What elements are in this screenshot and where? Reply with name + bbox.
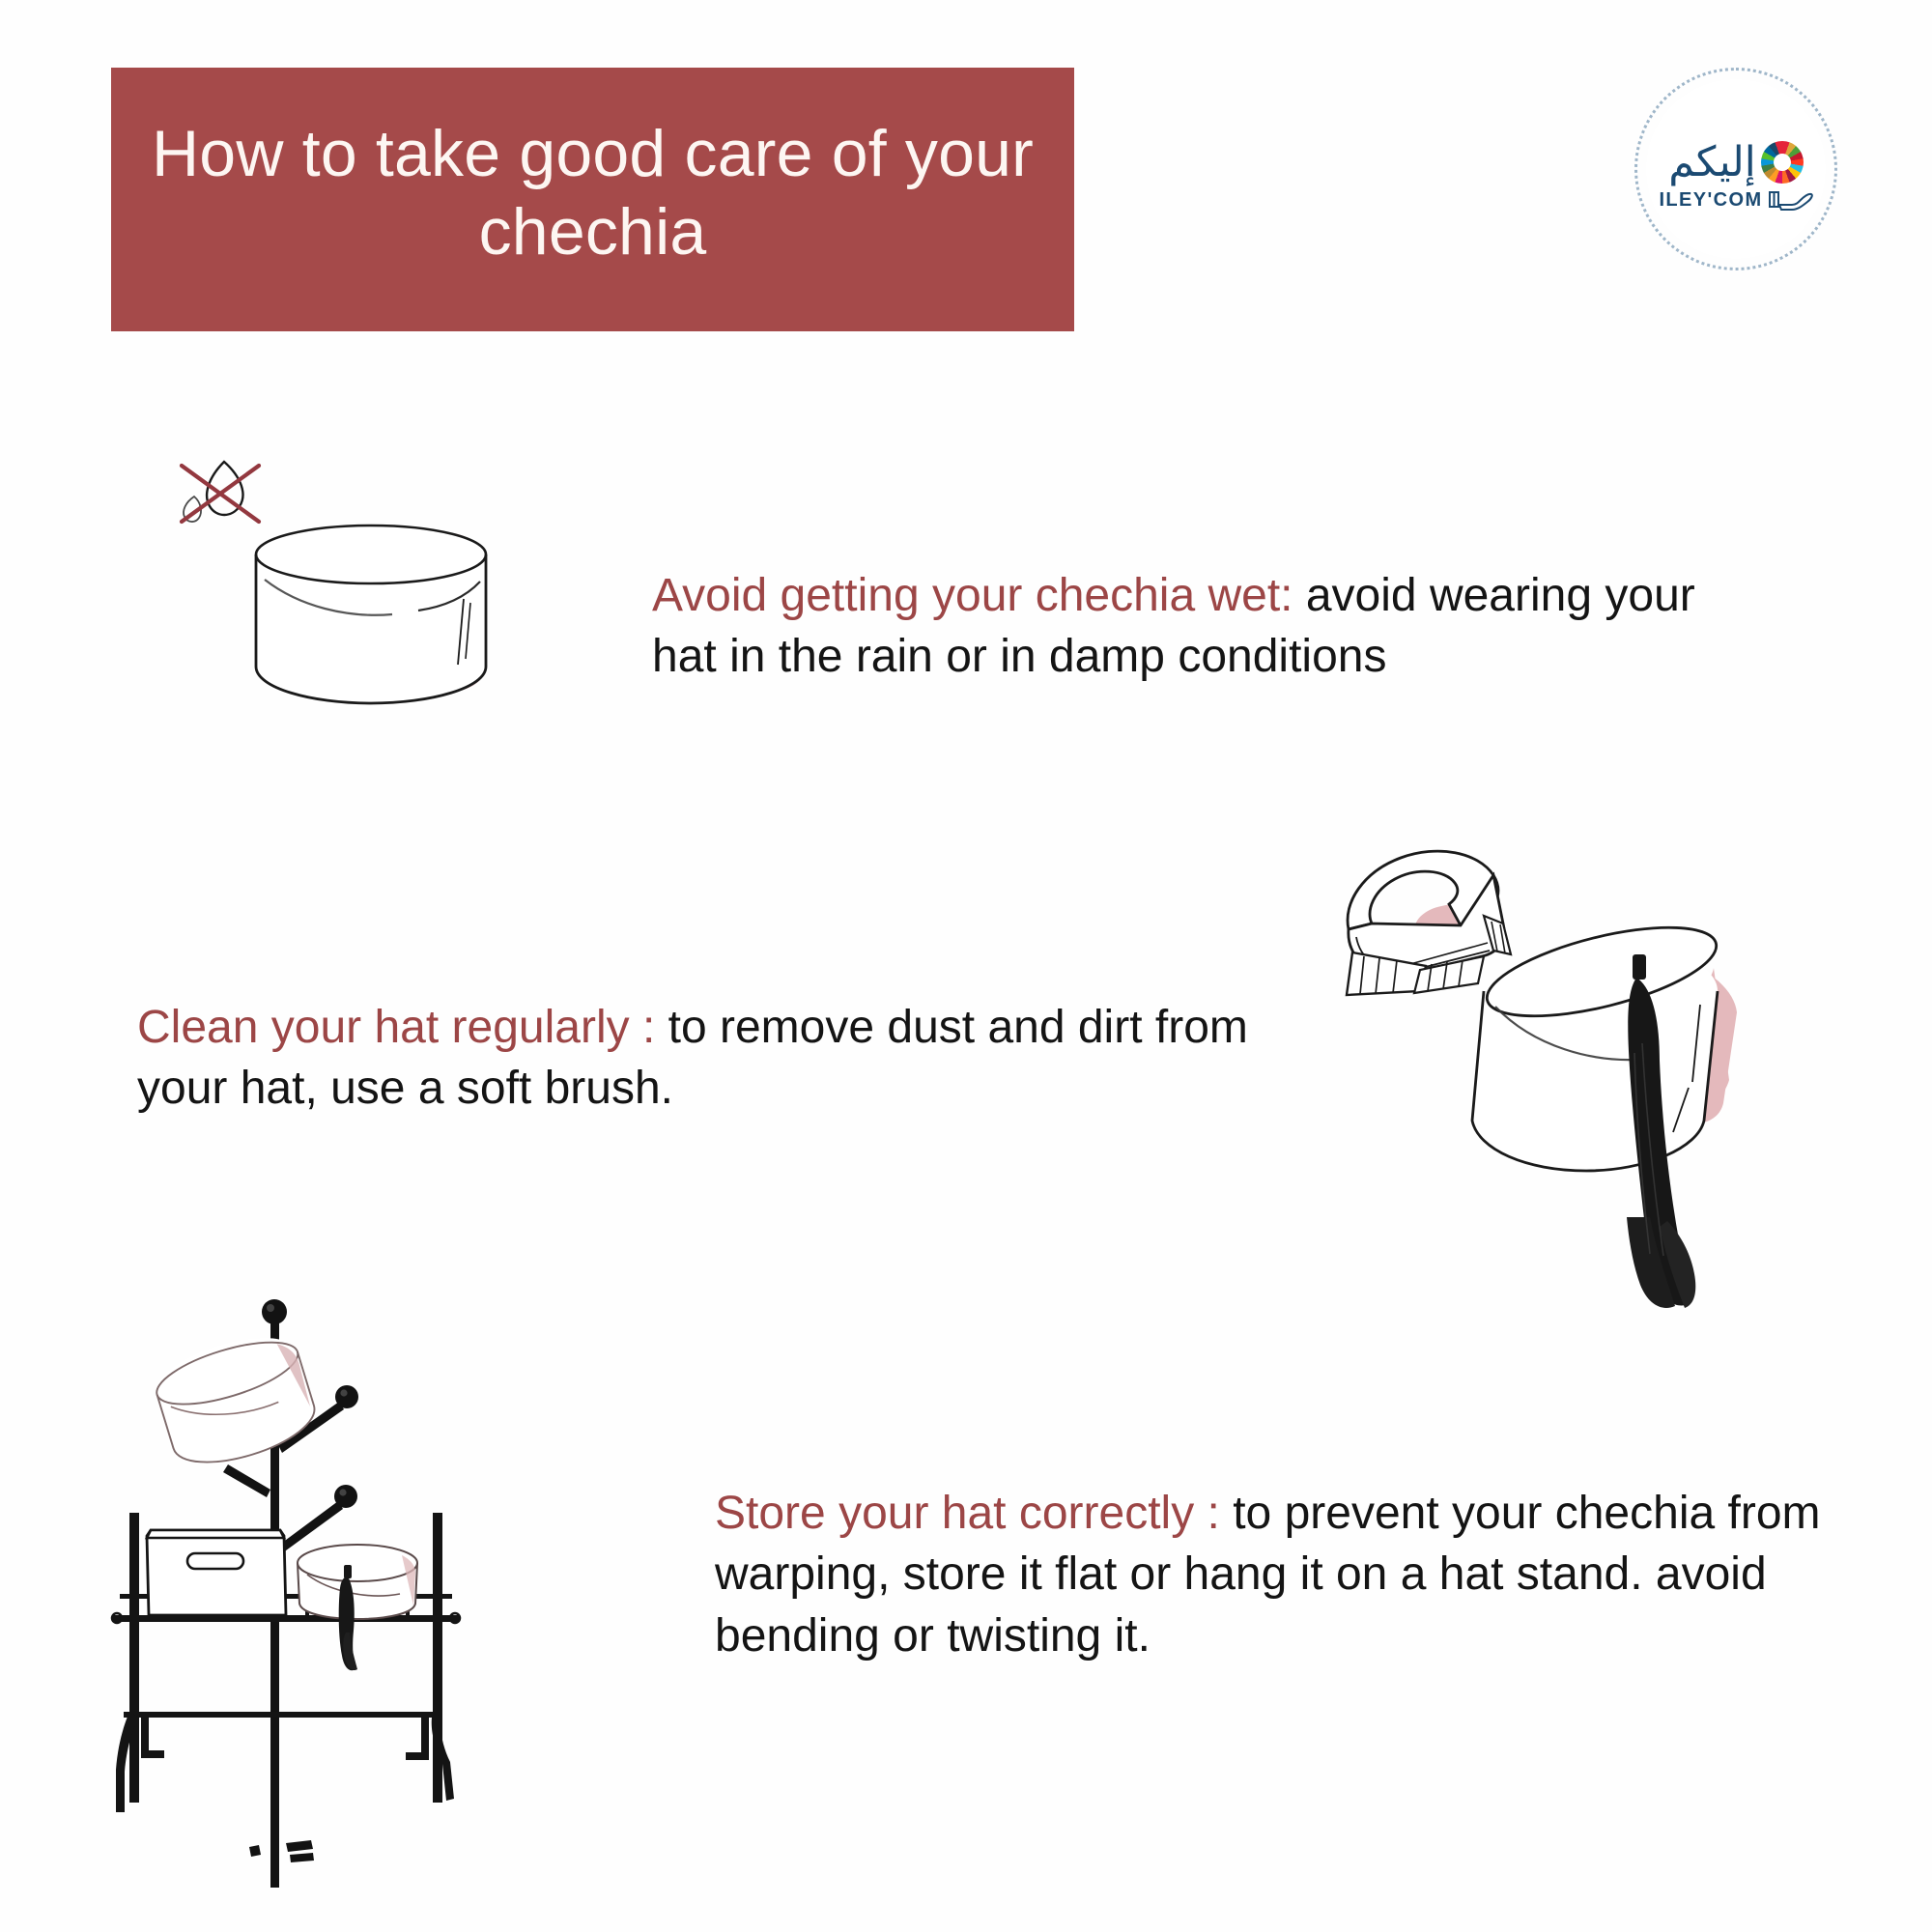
- page-title: How to take good care of your chechia: [150, 115, 1036, 270]
- chechia-on-peg: [149, 1324, 323, 1476]
- logo-arabic-name: إليكم: [1668, 142, 1755, 184]
- open-hand-icon: [1769, 187, 1813, 213]
- red-cross-icon: [182, 466, 259, 522]
- title-banner: How to take good care of your chechia: [111, 68, 1074, 331]
- logo-top-row: إليكم: [1668, 126, 1803, 184]
- tip-lead-avoid-wet: Avoid getting your chechia wet:: [652, 570, 1293, 621]
- chechia-with-no-water-symbol: [164, 444, 570, 782]
- tip-lead-clean-regularly: Clean your hat regularly :: [137, 1002, 655, 1053]
- storage-box: [147, 1530, 286, 1615]
- brush-and-tilted-chechia: [1314, 802, 1816, 1372]
- shelf-and-hat-stand: [106, 1275, 647, 1903]
- logo-inner: إليكم ILEY'COM: [1646, 79, 1826, 259]
- chechia-cylinder: [256, 526, 486, 703]
- chechia-on-shelf: [298, 1545, 417, 1670]
- tip-text-avoid-wet: Avoid getting your chechia wet: avoid we…: [652, 565, 1744, 688]
- tip-lead-store-correctly: Store your hat correctly :: [715, 1488, 1220, 1539]
- chechia-tilted: [1472, 910, 1737, 1171]
- sdg-color-wheel-icon: [1761, 141, 1804, 184]
- logo-wordmark: ILEY'COM: [1659, 189, 1762, 212]
- tip-text-clean-regularly: Clean your hat regularly : to remove dus…: [137, 997, 1258, 1120]
- brand-logo: إليكم ILEY'COM: [1634, 68, 1837, 270]
- infographic-canvas: How to take good care of your chechia إل…: [0, 0, 1932, 1932]
- tip-text-store-correctly: Store your hat correctly : to prevent yo…: [715, 1483, 1835, 1666]
- soft-brush-icon: [1347, 851, 1511, 995]
- logo-bottom-row: ILEY'COM: [1659, 187, 1812, 213]
